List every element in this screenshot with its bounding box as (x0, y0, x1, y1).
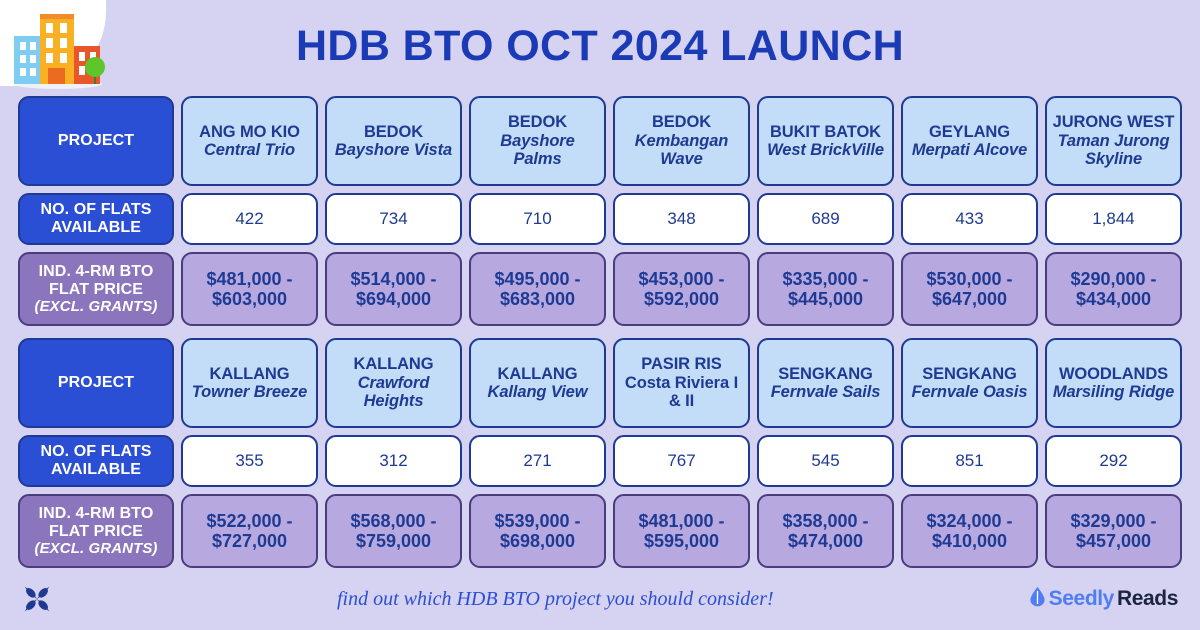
row-label-project: PROJECT (18, 338, 174, 428)
flats-cell: 545 (757, 435, 894, 487)
project-town: KALLANG (354, 355, 434, 373)
project-name: Crawford Heights (331, 374, 456, 411)
flats-cell: 1,844 (1045, 193, 1182, 245)
project-town: GEYLANG (929, 123, 1010, 141)
project-cell[interactable]: BEDOK Bayshore Palms (469, 96, 606, 186)
row-label-flats-line2: AVAILABLE (51, 461, 141, 479)
price-high: $434,000 (1076, 289, 1151, 309)
price-low: $514,000 - (350, 269, 436, 289)
price-cell: $530,000 - $647,000 (901, 252, 1038, 326)
project-name: Merpati Alcove (912, 141, 1027, 159)
price-low: $522,000 - (206, 511, 292, 531)
row-label-project: PROJECT (18, 96, 174, 186)
row-label-flats: NO. OF FLATS AVAILABLE (18, 193, 174, 245)
project-town: ANG MO KIO (199, 123, 300, 141)
price-cell: $290,000 - $434,000 (1045, 252, 1182, 326)
project-name: Fernvale Oasis (911, 383, 1027, 401)
project-name: Fernvale Sails (771, 383, 881, 401)
price-high: $474,000 (788, 531, 863, 551)
row-label-price-line3: (EXCL. GRANTS) (34, 299, 157, 316)
project-name: Costa Riviera I & II (619, 374, 744, 411)
project-cell[interactable]: JURONG WEST Taman Jurong Skyline (1045, 96, 1182, 186)
table-row-project: PROJECT ANG MO KIO Central Trio BEDOK Ba… (18, 96, 1182, 186)
seedly-drop-icon (1029, 586, 1046, 612)
row-label-price-line3: (EXCL. GRANTS) (34, 541, 157, 558)
footer-tagline: find out which HDB BTO project you shoul… (82, 588, 1029, 611)
row-label-price-line2: FLAT PRICE (49, 523, 143, 541)
price-low: $324,000 - (926, 511, 1012, 531)
four-petal-sparkle-icon (22, 584, 82, 614)
project-cell[interactable]: SENGKANG Fernvale Oasis (901, 338, 1038, 428)
row-label-flats: NO. OF FLATS AVAILABLE (18, 435, 174, 487)
project-cell[interactable]: KALLANG Towner Breeze (181, 338, 318, 428)
flats-cell: 851 (901, 435, 1038, 487)
price-high: $727,000 (212, 531, 287, 551)
project-name: Taman Jurong Skyline (1051, 132, 1176, 169)
table-block-2: PROJECT KALLANG Towner Breeze KALLANG Cr… (0, 338, 1200, 568)
price-low: $358,000 - (782, 511, 868, 531)
price-cell: $514,000 - $694,000 (325, 252, 462, 326)
table-row-flats: NO. OF FLATS AVAILABLE 422 734 710 348 6… (18, 193, 1182, 245)
row-label-flats-line2: AVAILABLE (51, 219, 141, 237)
project-town: KALLANG (498, 365, 578, 383)
brand-name-seedly: Seedly (1049, 587, 1114, 611)
page-header: HDB BTO OCT 2024 LAUNCH (0, 0, 1200, 96)
row-label-price-line2: FLAT PRICE (49, 281, 143, 299)
project-cell[interactable]: BEDOK Bayshore Vista (325, 96, 462, 186)
project-name: Towner Breeze (192, 383, 307, 401)
table-row-project: PROJECT KALLANG Towner Breeze KALLANG Cr… (18, 338, 1182, 428)
table-block-1: PROJECT ANG MO KIO Central Trio BEDOK Ba… (0, 96, 1200, 326)
row-label-price-line1: IND. 4-RM BTO (39, 263, 154, 281)
price-cell: $329,000 - $457,000 (1045, 494, 1182, 568)
price-low: $453,000 - (638, 269, 724, 289)
price-cell: $481,000 - $595,000 (613, 494, 750, 568)
project-cell[interactable]: GEYLANG Merpati Alcove (901, 96, 1038, 186)
row-label-price: IND. 4-RM BTO FLAT PRICE (EXCL. GRANTS) (18, 252, 174, 326)
price-cell: $453,000 - $592,000 (613, 252, 750, 326)
flats-cell: 767 (613, 435, 750, 487)
price-cell: $522,000 - $727,000 (181, 494, 318, 568)
row-label-flats-line1: NO. OF FLATS (40, 443, 151, 461)
price-low: $568,000 - (350, 511, 436, 531)
table-row-flats: NO. OF FLATS AVAILABLE 355 312 271 767 5… (18, 435, 1182, 487)
flats-cell: 734 (325, 193, 462, 245)
price-low: $335,000 - (782, 269, 868, 289)
project-name: Marsiling Ridge (1053, 383, 1174, 401)
flats-cell: 312 (325, 435, 462, 487)
project-name: Kallang View (488, 383, 588, 401)
row-label-project-text: PROJECT (58, 374, 134, 392)
project-cell[interactable]: BEDOK Kembangan Wave (613, 96, 750, 186)
price-cell: $539,000 - $698,000 (469, 494, 606, 568)
table-row-price: IND. 4-RM BTO FLAT PRICE (EXCL. GRANTS) … (18, 494, 1182, 568)
project-cell[interactable]: ANG MO KIO Central Trio (181, 96, 318, 186)
seedly-reads-logo[interactable]: Seedly Reads (1029, 586, 1178, 612)
project-cell[interactable]: KALLANG Crawford Heights (325, 338, 462, 428)
price-low: $290,000 - (1070, 269, 1156, 289)
price-low: $539,000 - (494, 511, 580, 531)
price-high: $759,000 (356, 531, 431, 551)
project-town: SENGKANG (778, 365, 873, 383)
project-name: West BrickVille (767, 141, 884, 159)
project-town: BEDOK (364, 123, 423, 141)
project-town: PASIR RIS (641, 355, 721, 373)
flats-cell: 710 (469, 193, 606, 245)
project-town: WOODLANDS (1059, 365, 1168, 383)
brand-name-reads: Reads (1117, 587, 1178, 611)
flats-cell: 348 (613, 193, 750, 245)
flats-cell: 355 (181, 435, 318, 487)
page-title: HDB BTO OCT 2024 LAUNCH (0, 22, 1200, 71)
price-high: $592,000 (644, 289, 719, 309)
project-town: KALLANG (210, 365, 290, 383)
price-high: $457,000 (1076, 531, 1151, 551)
project-name: Bayshore Palms (475, 132, 600, 169)
project-town: JURONG WEST (1053, 113, 1175, 131)
row-label-price-line1: IND. 4-RM BTO (39, 505, 154, 523)
project-cell[interactable]: KALLANG Kallang View (469, 338, 606, 428)
price-cell: $358,000 - $474,000 (757, 494, 894, 568)
project-name: Central Trio (204, 141, 295, 159)
page-footer: find out which HDB BTO project you shoul… (0, 568, 1200, 630)
price-high: $698,000 (500, 531, 575, 551)
flats-cell: 422 (181, 193, 318, 245)
project-town: BEDOK (652, 113, 711, 131)
price-high: $410,000 (932, 531, 1007, 551)
price-cell: $568,000 - $759,000 (325, 494, 462, 568)
table-row-price: IND. 4-RM BTO FLAT PRICE (EXCL. GRANTS) … (18, 252, 1182, 326)
row-label-flats-line1: NO. OF FLATS (40, 201, 151, 219)
price-high: $647,000 (932, 289, 1007, 309)
row-label-price: IND. 4-RM BTO FLAT PRICE (EXCL. GRANTS) (18, 494, 174, 568)
price-low: $481,000 - (638, 511, 724, 531)
project-town: BUKIT BATOK (770, 123, 881, 141)
price-high: $595,000 (644, 531, 719, 551)
price-high: $683,000 (500, 289, 575, 309)
price-low: $329,000 - (1070, 511, 1156, 531)
price-low: $495,000 - (494, 269, 580, 289)
price-low: $481,000 - (206, 269, 292, 289)
flats-cell: 271 (469, 435, 606, 487)
row-label-project-text: PROJECT (58, 132, 134, 150)
price-low: $530,000 - (926, 269, 1012, 289)
project-cell[interactable]: BUKIT BATOK West BrickVille (757, 96, 894, 186)
price-cell: $495,000 - $683,000 (469, 252, 606, 326)
project-town: BEDOK (508, 113, 567, 131)
project-name: Kembangan Wave (619, 132, 744, 169)
flats-cell: 292 (1045, 435, 1182, 487)
project-town: SENGKANG (922, 365, 1017, 383)
price-cell: $324,000 - $410,000 (901, 494, 1038, 568)
project-cell[interactable]: WOODLANDS Marsiling Ridge (1045, 338, 1182, 428)
flats-cell: 689 (757, 193, 894, 245)
project-name: Bayshore Vista (335, 141, 452, 159)
project-cell[interactable]: PASIR RIS Costa Riviera I & II (613, 338, 750, 428)
price-high: $445,000 (788, 289, 863, 309)
price-high: $694,000 (356, 289, 431, 309)
flats-cell: 433 (901, 193, 1038, 245)
price-cell: $481,000 - $603,000 (181, 252, 318, 326)
price-cell: $335,000 - $445,000 (757, 252, 894, 326)
project-cell[interactable]: SENGKANG Fernvale Sails (757, 338, 894, 428)
price-high: $603,000 (212, 289, 287, 309)
